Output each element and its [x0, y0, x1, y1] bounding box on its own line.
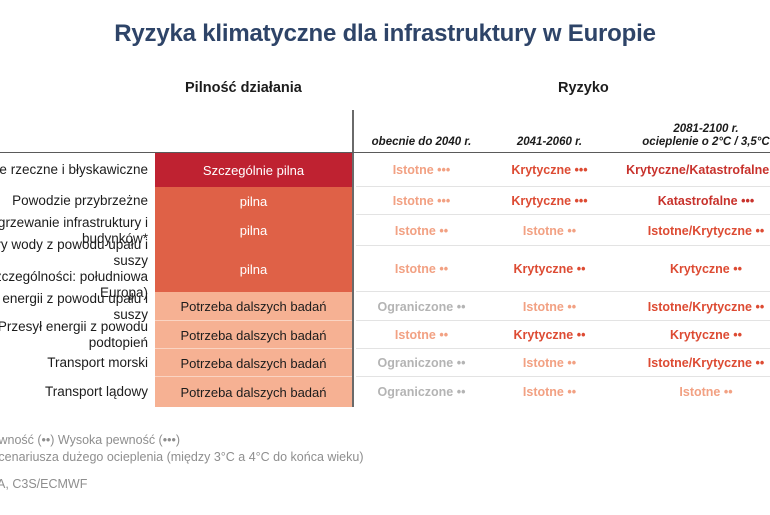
vertical-divider — [352, 187, 354, 215]
column-header-period-3-years: 2081-2100 r. — [673, 123, 738, 135]
column-header-period-3-warming: ocieplenie o 2°C / 3,5°C — [642, 136, 769, 148]
table-row: Transport lądowyPotrzeba dalszych badańO… — [0, 377, 770, 407]
row-label-line1: Produkcja energii z powodu upału i suszy — [0, 291, 148, 323]
vertical-divider — [352, 321, 354, 349]
vertical-divider — [352, 246, 354, 292]
urgency-cell: pilna — [155, 187, 352, 215]
risk-cell-period-2: Krytyczne •• — [487, 321, 612, 349]
group-header-risk: Ryzyko — [558, 80, 609, 96]
row-label-line1: Powodzie rzeczne i błyskawiczne — [0, 162, 148, 178]
risk-cell-period-1: Istotne ••• — [356, 187, 487, 215]
table-row: Produkcja energii z powodu upału i suszy… — [0, 292, 770, 321]
footer-scenario-note: * dotyczy scenariusza dużego ocieplenia … — [0, 449, 638, 466]
vertical-divider — [352, 349, 354, 377]
row-label-line1: Przesył energii z powodu podtopień — [0, 319, 148, 351]
risk-cell-period-3: Krytyczne •• — [612, 321, 770, 349]
row-label: Powodzie przybrzeżne — [0, 193, 148, 209]
risk-cell-period-1: Istotne •• — [356, 246, 487, 292]
risk-cell-period-3: Krytyczne •• — [612, 246, 770, 292]
risk-cell-period-2: Istotne •• — [487, 349, 612, 377]
table-column-headers: obecnie do 2040 r. 2041-2060 r. 2081-210… — [0, 110, 770, 153]
risk-cell-period-2: Krytyczne ••• — [487, 153, 612, 187]
column-header-period-3: 2081-2100 r. ocieplenie o 2°C / 3,5°C — [612, 123, 770, 149]
risk-cell-period-2: Istotne •• — [487, 377, 612, 407]
table-row: Niedobory wody z powodu upału i suszy(w … — [0, 246, 770, 292]
row-label-line1: Transport lądowy — [0, 384, 148, 400]
page-title: Ryzyka klimatyczne dla infrastruktury w … — [0, 20, 770, 48]
row-label: Transport lądowy — [0, 384, 148, 400]
table-row: Powodzie przybrzeżnepilnaIstotne •••Kryt… — [0, 187, 770, 215]
risk-cell-period-3: Istotne/Krytyczne •• — [612, 349, 770, 377]
column-header-period-1: obecnie do 2040 r. — [356, 136, 487, 149]
column-header-period-2: 2041-2060 r. — [487, 136, 612, 149]
risk-cell-period-3: Istotne/Krytyczne •• — [612, 215, 770, 246]
group-header-urgency: Pilność działania — [185, 80, 302, 96]
row-label-line1: Transport morski — [0, 355, 148, 371]
risk-cell-period-3: Istotne •• — [612, 377, 770, 407]
risk-cell-period-1: Istotne •• — [356, 321, 487, 349]
row-label: Powodzie rzeczne i błyskawiczne — [0, 162, 148, 178]
footer-source: Źródło: EEA, C3S/ECMWF — [0, 476, 638, 493]
header-vertical-divider — [352, 110, 354, 152]
urgency-cell: Szczególnie pilna — [155, 153, 352, 187]
risk-cell-period-2: Istotne •• — [487, 215, 612, 246]
urgency-cell: Potrzeba dalszych badań — [155, 321, 352, 349]
table-row: Powodzie rzeczne i błyskawiczneSzczególn… — [0, 153, 770, 187]
row-label-line1: Powodzie przybrzeżne — [0, 193, 148, 209]
row-label: Transport morski — [0, 355, 148, 371]
vertical-divider — [352, 377, 354, 407]
urgency-cell: Potrzeba dalszych badań — [155, 292, 352, 321]
footer-confidence-note: Średnia pewność (••) Wysoka pewność (•••… — [0, 432, 638, 449]
table-row: Transport morskiPotrzeba dalszych badańO… — [0, 349, 770, 377]
risk-cell-period-1: Ograniczone •• — [356, 349, 487, 377]
table-row: Przesył energii z powodu podtopieńPotrze… — [0, 321, 770, 349]
risk-table: obecnie do 2040 r. 2041-2060 r. 2081-210… — [0, 110, 770, 407]
risk-cell-period-1: Ograniczone •• — [356, 377, 487, 407]
risk-cell-period-2: Krytyczne •• — [487, 246, 612, 292]
risk-cell-period-1: Istotne ••• — [356, 153, 487, 187]
footer-notes: Średnia pewność (••) Wysoka pewność (•••… — [0, 432, 638, 493]
risk-cell-period-1: Istotne •• — [356, 215, 487, 246]
table-body: Powodzie rzeczne i błyskawiczneSzczególn… — [0, 153, 770, 407]
risk-cell-period-3: Katastrofalne ••• — [612, 187, 770, 215]
row-label: Produkcja energii z powodu upału i suszy — [0, 291, 148, 323]
row-label-line1: Niedobory wody z powodu upału i suszy — [0, 237, 148, 269]
risk-cell-period-3: Krytyczne/Katastrofalne ••• — [612, 153, 770, 187]
row-label: Przesył energii z powodu podtopień — [0, 319, 148, 351]
urgency-cell: Potrzeba dalszych badań — [155, 377, 352, 407]
urgency-cell: pilna — [155, 246, 352, 292]
risk-cell-period-3: Istotne/Krytyczne •• — [612, 292, 770, 321]
urgency-cell: Potrzeba dalszych badań — [155, 349, 352, 377]
vertical-divider — [352, 292, 354, 321]
risk-cell-period-2: Istotne •• — [487, 292, 612, 321]
vertical-divider — [352, 215, 354, 246]
urgency-cell: pilna — [155, 215, 352, 246]
vertical-divider — [352, 153, 354, 187]
risk-cell-period-1: Ograniczone •• — [356, 292, 487, 321]
risk-cell-period-2: Krytyczne ••• — [487, 187, 612, 215]
